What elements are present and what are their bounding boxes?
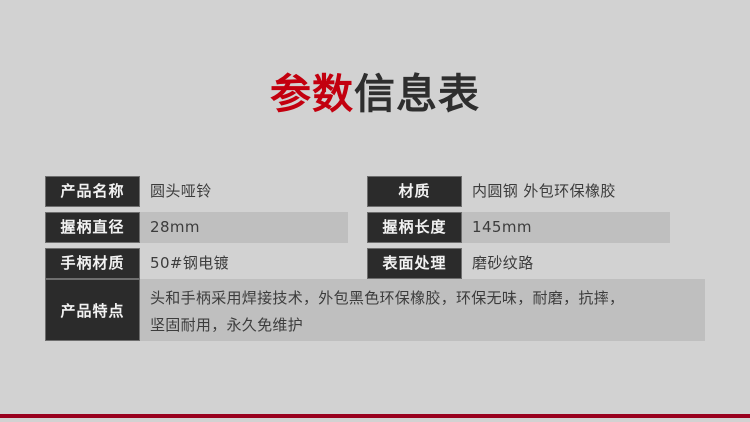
spec-label: 手柄材质 — [45, 248, 140, 279]
spec-table: 产品名称 圆头哑铃 材质 内圆钢 外包环保橡胶 握柄直径 28mm 握柄长度 1… — [45, 176, 705, 284]
spec-value: 内圆钢 外包环保橡胶 — [462, 176, 670, 207]
spec-pair-left: 手柄材质 50#钢电镀 — [45, 248, 348, 279]
spec-value: 磨砂纹路 — [462, 248, 670, 279]
spec-value: 圆头哑铃 — [140, 176, 348, 207]
table-row: 握柄直径 28mm 握柄长度 145mm — [45, 212, 705, 243]
spec-value: 145mm — [462, 212, 670, 243]
product-spec-page: 参数信息表 产品名称 圆头哑铃 材质 内圆钢 外包环保橡胶 握柄直径 28mm … — [0, 0, 750, 422]
product-feature-row: 产品特点 头和手柄采用焊接技术，外包黑色环保橡胶，环保无味，耐磨，抗摔， 坚固耐… — [45, 279, 705, 341]
product-feature-text: 头和手柄采用焊接技术，外包黑色环保橡胶，环保无味，耐磨，抗摔， 坚固耐用，永久免… — [140, 279, 705, 341]
product-feature-line-2: 坚固耐用，永久免维护 — [150, 312, 705, 339]
spec-pair-left: 产品名称 圆头哑铃 — [45, 176, 348, 207]
spec-label: 材质 — [367, 176, 462, 207]
page-title: 参数信息表 — [0, 68, 750, 120]
spec-pair-right: 表面处理 磨砂纹路 — [367, 248, 670, 279]
spec-label: 产品特点 — [45, 279, 140, 341]
spec-label: 握柄直径 — [45, 212, 140, 243]
spec-value: 28mm — [140, 212, 348, 243]
spec-label: 握柄长度 — [367, 212, 462, 243]
bottom-accent-rule — [0, 414, 750, 418]
spec-label: 表面处理 — [367, 248, 462, 279]
spec-label: 产品名称 — [45, 176, 140, 207]
product-feature-line-1: 头和手柄采用焊接技术，外包黑色环保橡胶，环保无味，耐磨，抗摔， — [150, 285, 705, 312]
spec-pair-left: 握柄直径 28mm — [45, 212, 348, 243]
spec-pair-right: 握柄长度 145mm — [367, 212, 670, 243]
page-title-accent: 参数 — [270, 70, 354, 118]
spec-pair-right: 材质 内圆钢 外包环保橡胶 — [367, 176, 670, 207]
page-title-rest: 信息表 — [354, 70, 480, 118]
table-row: 产品名称 圆头哑铃 材质 内圆钢 外包环保橡胶 — [45, 176, 705, 207]
spec-value: 50#钢电镀 — [140, 248, 348, 279]
table-row: 手柄材质 50#钢电镀 表面处理 磨砂纹路 — [45, 248, 705, 279]
